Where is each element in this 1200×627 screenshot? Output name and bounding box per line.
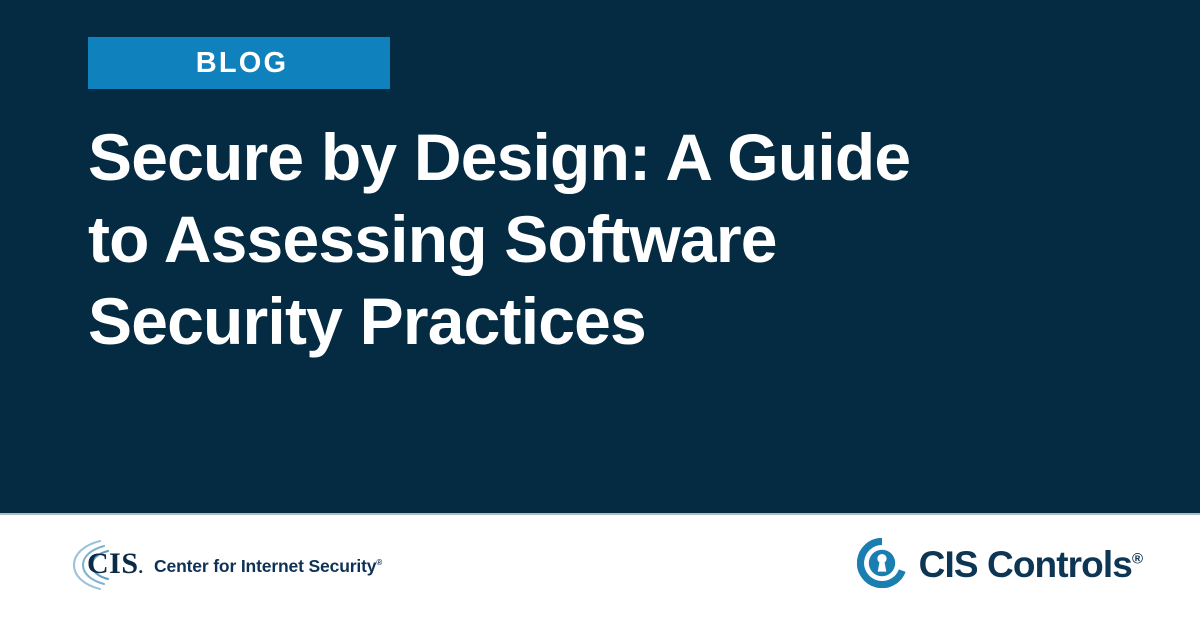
blog-badge-label: BLOG: [190, 49, 289, 78]
cis-tagline-trademark: ®: [376, 558, 382, 567]
cis-controls-wordmark-text: CIS Controls: [919, 544, 1132, 585]
cis-mark-period: .: [139, 557, 144, 577]
page-title: Secure by Design: A Guide to Assessing S…: [88, 116, 988, 362]
blog-promo-graphic: BLOG Secure by Design: A Guide to Assess…: [0, 0, 1200, 627]
cis-arcs-icon: CIS.: [70, 538, 152, 592]
cis-tagline: Center for Internet Security®: [154, 558, 382, 576]
cis-mark-letters: CIS: [87, 547, 139, 580]
cis-controls-logo: CIS Controls®: [857, 535, 1143, 591]
blog-badge: BLOG: [88, 37, 390, 89]
hero-content: BLOG Secure by Design: A Guide to Assess…: [88, 0, 1118, 513]
cis-tagline-text: Center for Internet Security: [154, 556, 376, 576]
footer-section: CIS. Center for Internet Security® CIS C…: [0, 513, 1200, 627]
cis-mark-text: CIS.: [87, 549, 144, 579]
cis-controls-trademark: ®: [1132, 550, 1143, 567]
hero-section: BLOG Secure by Design: A Guide to Assess…: [0, 0, 1200, 513]
keyhole-circle-icon: [857, 538, 907, 588]
cis-logo: CIS. Center for Internet Security®: [70, 538, 382, 592]
cis-controls-wordmark: CIS Controls®: [919, 546, 1143, 583]
